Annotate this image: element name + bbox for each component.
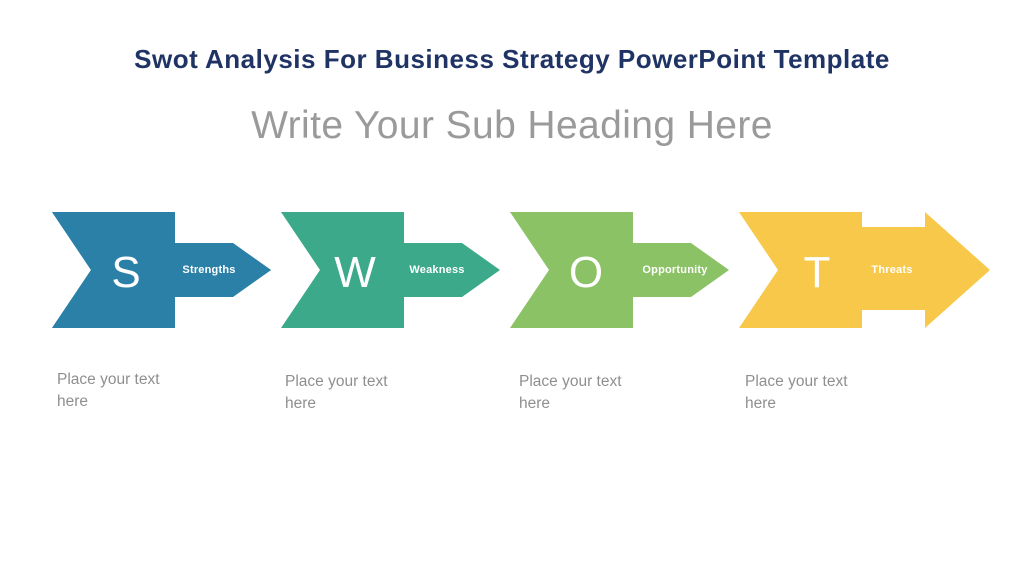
caption-line-2: here xyxy=(285,395,316,412)
page-title: Swot Analysis For Business Strategy Powe… xyxy=(0,44,1024,75)
caption-line-2: here xyxy=(745,395,776,412)
swot-caption-strengths: Place your text here xyxy=(57,369,187,413)
swot-caption-weakness: Place your text here xyxy=(285,371,415,415)
caption-line-1: Place your text xyxy=(745,373,848,390)
caption-line-2: here xyxy=(57,393,88,410)
swot-word-opportunity: Opportunity xyxy=(642,264,708,276)
swot-letter-opportunity: O xyxy=(569,248,603,297)
swot-word-weakness: Weakness xyxy=(409,264,464,276)
swot-caption-opportunity: Place your text here xyxy=(519,371,649,415)
swot-letter-strengths: S xyxy=(111,248,140,297)
caption-line-2: here xyxy=(519,395,550,412)
caption-line-1: Place your text xyxy=(57,371,160,388)
swot-word-threats: Threats xyxy=(871,264,912,276)
swot-step-strengths[interactable]: S Strengths xyxy=(52,212,271,328)
swot-letter-weakness: W xyxy=(334,248,376,297)
caption-line-1: Place your text xyxy=(519,373,622,390)
swot-caption-threats: Place your text here xyxy=(745,371,875,415)
swot-arrow-body-threats[interactable] xyxy=(739,212,990,328)
swot-step-weakness[interactable]: W Weakness xyxy=(281,212,500,328)
swot-step-threats[interactable]: T Threats xyxy=(739,212,990,328)
swot-slide: Swot Analysis For Business Strategy Powe… xyxy=(0,0,1024,576)
swot-word-strengths: Strengths xyxy=(182,264,235,276)
page-subtitle: Write Your Sub Heading Here xyxy=(0,104,1024,148)
swot-step-opportunity[interactable]: O Opportunity xyxy=(510,212,729,328)
swot-arrow-body-strengths[interactable] xyxy=(52,212,271,328)
caption-line-1: Place your text xyxy=(285,373,388,390)
swot-arrow-chain: S Strengths W Weakness O Opportunity T T… xyxy=(0,205,1024,335)
swot-letter-threats: T xyxy=(804,248,831,297)
swot-arrow-body-weakness[interactable] xyxy=(281,212,500,328)
